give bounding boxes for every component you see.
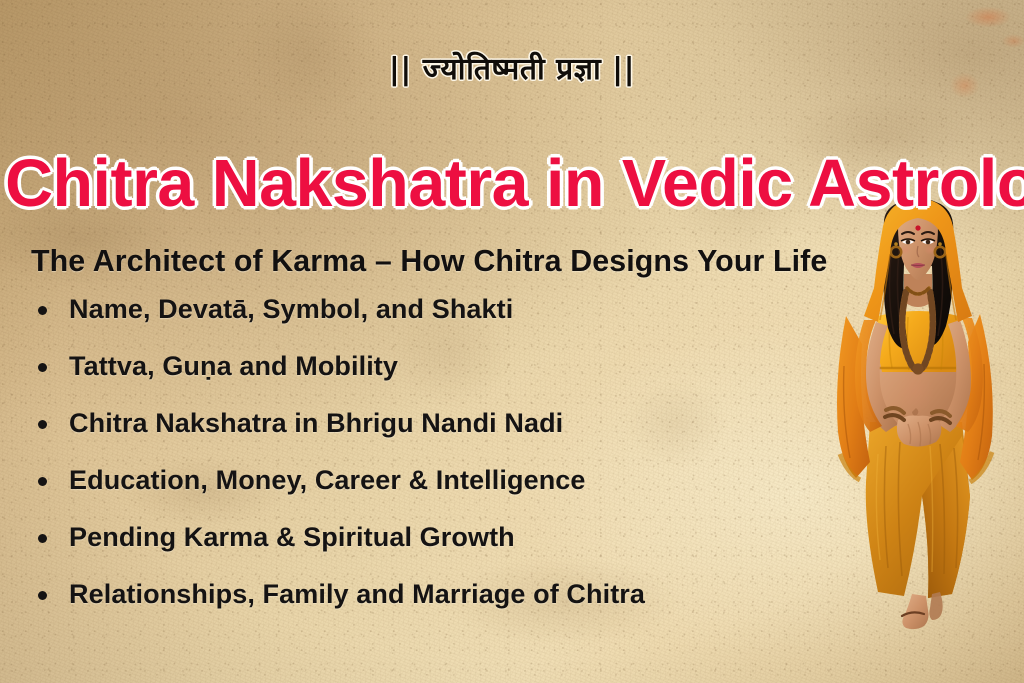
list-item: Relationships, Family and Marriage of Ch… <box>31 566 821 623</box>
list-item-label: Relationships, Family and Marriage of Ch… <box>69 579 645 610</box>
poster-content: || ज्योतिष्मती प्रज्ञा || Chitra Nakshat… <box>0 0 1024 683</box>
list-item: Pending Karma & Spiritual Growth <box>31 509 821 566</box>
page-title: Chitra Nakshatra in Vedic Astrology <box>5 148 1019 220</box>
list-item-label: Tattva, Guṇa and Mobility <box>69 351 398 382</box>
list-item: Chitra Nakshatra in Bhrigu Nandi Nadi <box>31 395 821 452</box>
list-item-label: Education, Money, Career & Intelligence <box>69 465 586 496</box>
sanskrit-tagline: || ज्योतिष्मती प्रज्ञा || <box>0 50 1024 90</box>
list-item: Name, Devatā, Symbol, and Shakti <box>31 281 821 338</box>
list-item: Education, Money, Career & Intelligence <box>31 452 821 509</box>
list-item-label: Chitra Nakshatra in Bhrigu Nandi Nadi <box>69 408 563 439</box>
topics-list: Name, Devatā, Symbol, and Shakti Tattva,… <box>31 281 821 623</box>
list-item-label: Pending Karma & Spiritual Growth <box>69 522 515 553</box>
bullet-dot-icon <box>38 363 47 372</box>
poster-canvas: || ज्योतिष्मती प्रज्ञा || Chitra Nakshat… <box>0 0 1024 683</box>
bullet-dot-icon <box>38 591 47 600</box>
bullet-dot-icon <box>38 477 47 486</box>
bullet-dot-icon <box>38 420 47 429</box>
page-subtitle: The Architect of Karma – How Chitra Desi… <box>31 242 827 280</box>
list-item: Tattva, Guṇa and Mobility <box>31 338 821 395</box>
list-item-label: Name, Devatā, Symbol, and Shakti <box>69 294 513 325</box>
bullet-dot-icon <box>38 306 47 315</box>
bullet-dot-icon <box>38 534 47 543</box>
